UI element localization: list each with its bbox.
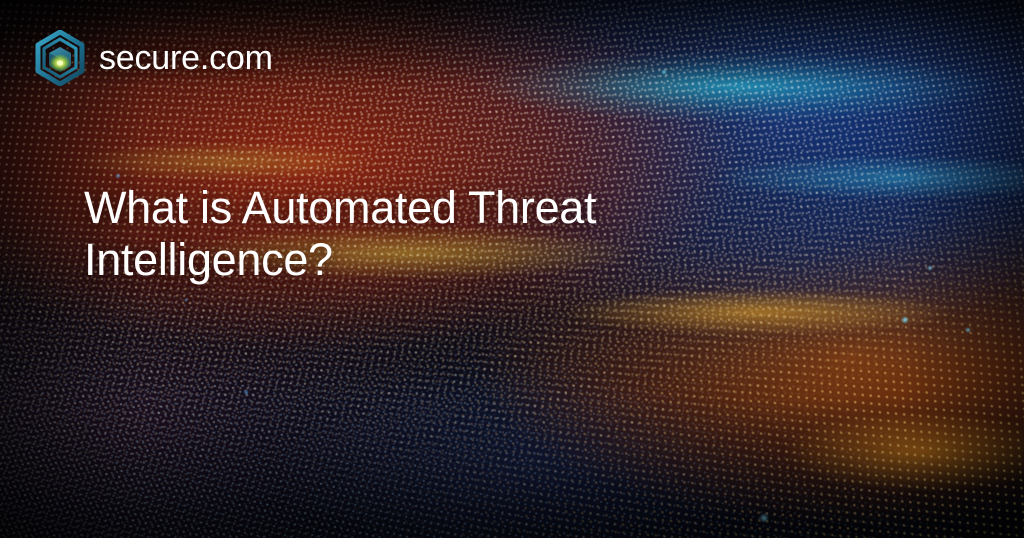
page-title: What is Automated Threat Intelligence? <box>84 182 684 286</box>
brand-logo-lockup[interactable]: secure.com <box>34 30 273 86</box>
hexagon-cube-icon <box>34 30 86 86</box>
banner-image: secure.com What is Automated Threat Inte… <box>0 0 1024 538</box>
brand-wordmark: secure.com <box>99 41 273 75</box>
